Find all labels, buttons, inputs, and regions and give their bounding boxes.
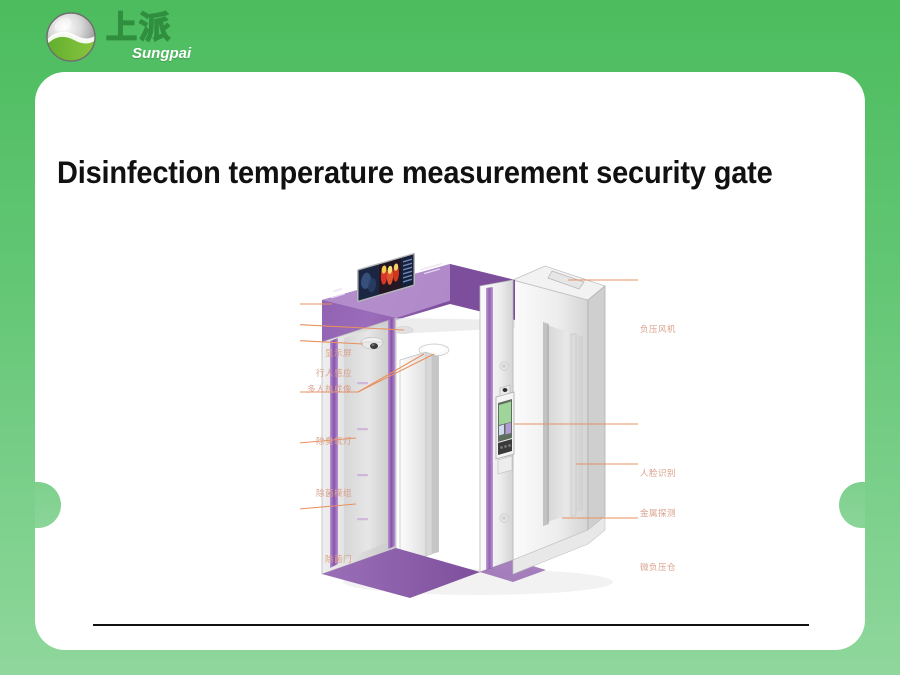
brand-name-en: Sungpai — [132, 46, 191, 61]
callout-negative-pressure-fan: 负压风机 — [640, 323, 676, 335]
callout-deodorizing-ozone-lamp: 除臭氧灯 — [316, 435, 352, 447]
callout-pedestrian-sensor: 行人感应 — [316, 367, 352, 379]
callout-multi-person-thermal-imaging: 多人热成像 — [307, 383, 352, 395]
callout-micro-negative-pressure-chamber: 微负压仓 — [640, 561, 676, 573]
callout-sterilization-module: 除菌模组 — [316, 487, 352, 499]
product-figure: 显示屏 行人感应 多人热成像 除臭氧灯 除菌模组 除菌门 负压风机 人脸识别 金… — [300, 242, 680, 612]
callout-display-screen: 显示屏 — [325, 347, 352, 359]
page-title: Disinfection temperature measurement sec… — [57, 154, 784, 191]
callout-sterilization-door: 除菌门 — [325, 553, 352, 565]
brand-logo: 上派 Sungpai — [44, 8, 274, 66]
slide-canvas: 上派 Sungpai Disinfection temperature meas… — [0, 0, 900, 675]
content-card: Disinfection temperature measurement sec… — [35, 72, 865, 650]
sungpai-sphere-leaf-logo-icon — [44, 10, 98, 64]
brand-name-cn: 上派 — [106, 13, 191, 44]
brand-wordmark: 上派 Sungpai — [106, 13, 191, 61]
callout-metal-detection: 金属探测 — [640, 507, 676, 519]
footer-divider — [93, 624, 809, 626]
callout-face-recognition: 人脸识别 — [640, 467, 676, 479]
